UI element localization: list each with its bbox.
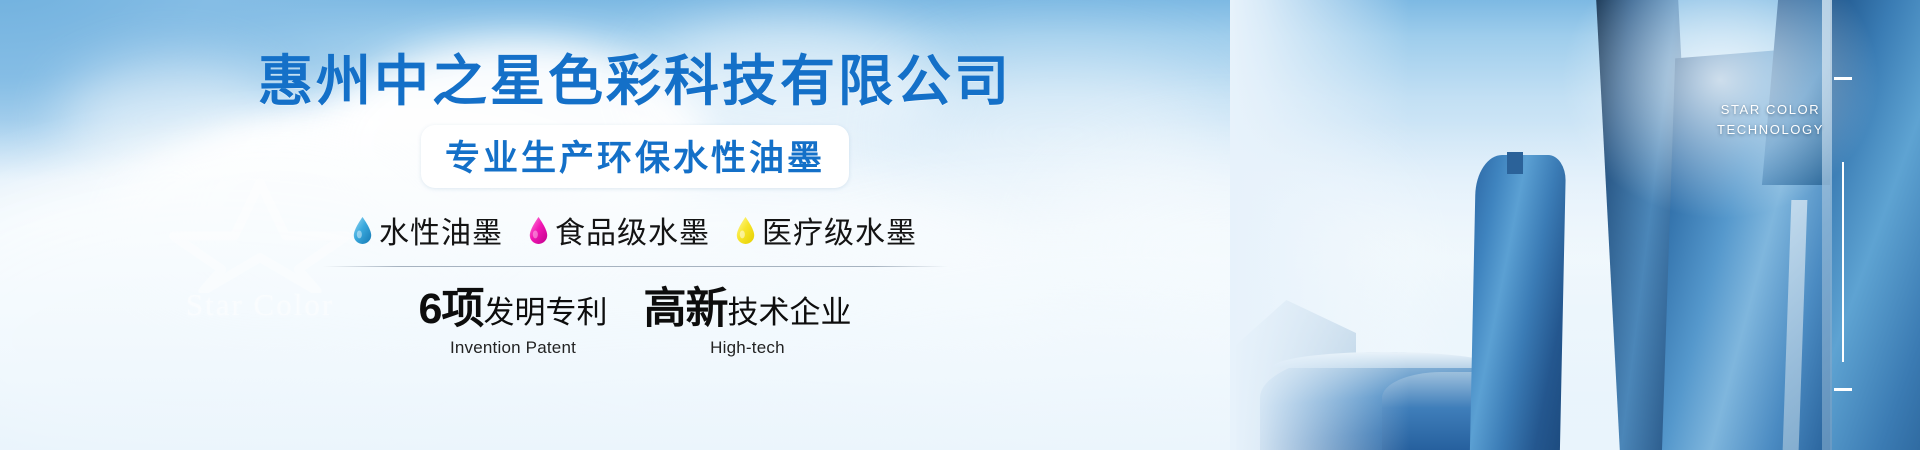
skyscrapers-photo: STAR COLOR TECHNOLOGY — [1230, 0, 1920, 450]
dash-mark-bottom — [1834, 388, 1852, 391]
feature-label: 水性油墨 — [379, 208, 503, 252]
badge-strong-text: 6项 — [419, 285, 484, 333]
company-title: 惠州中之星色彩科技有限公司 — [258, 52, 1012, 111]
badge-rest-text: 发明专利 — [483, 295, 607, 330]
vertical-rule — [1842, 162, 1844, 362]
badge-high-tech: 高新技术企业 High-tech — [643, 288, 851, 358]
dash-mark-top — [1834, 77, 1852, 80]
feature-list: 水性油墨 食品级水墨 — [353, 208, 917, 252]
feature-label: 医疗级水墨 — [762, 208, 917, 252]
badge-invention-patent: 6项发明专利 Invention Patent — [419, 288, 608, 358]
building-caption: STAR COLOR TECHNOLOGY — [1717, 100, 1824, 140]
banner-content: 惠州中之星色彩科技有限公司 专业生产环保水性油墨 水性油 — [0, 0, 1270, 450]
subtitle-text: 专业生产环保水性油墨 — [445, 139, 825, 178]
feature-item-food-grade-ink: 食品级水墨 — [529, 208, 710, 252]
feature-label: 食品级水墨 — [555, 208, 710, 252]
feature-item-medical-grade-ink: 医疗级水墨 — [736, 208, 917, 252]
badge-english-caption: High-tech — [643, 338, 851, 358]
company-hero-banner: Star Color STAR COLOR TECHNOLOGY 惠州中之星色彩… — [0, 0, 1920, 450]
badge-main-line: 高新技术企业 — [643, 288, 851, 331]
badge-strong-text: 高新 — [643, 285, 727, 333]
water-drop-icon — [353, 217, 372, 244]
feature-item-water-ink: 水性油墨 — [353, 208, 503, 252]
section-divider — [323, 266, 948, 267]
badge-main-line: 6项发明专利 — [419, 288, 608, 331]
credential-badges: 6项发明专利 Invention Patent 高新技术企业 High-tech — [419, 288, 852, 358]
water-drop-icon — [736, 217, 755, 244]
building-caption-line2: TECHNOLOGY — [1717, 120, 1824, 140]
water-drop-icon — [529, 217, 548, 244]
badge-english-caption: Invention Patent — [419, 338, 608, 358]
photo-left-fade — [1230, 0, 1920, 450]
building-caption-line1: STAR COLOR — [1717, 100, 1824, 120]
subtitle-pill: 专业生产环保水性油墨 — [421, 125, 849, 188]
badge-rest-text: 技术企业 — [727, 295, 851, 330]
